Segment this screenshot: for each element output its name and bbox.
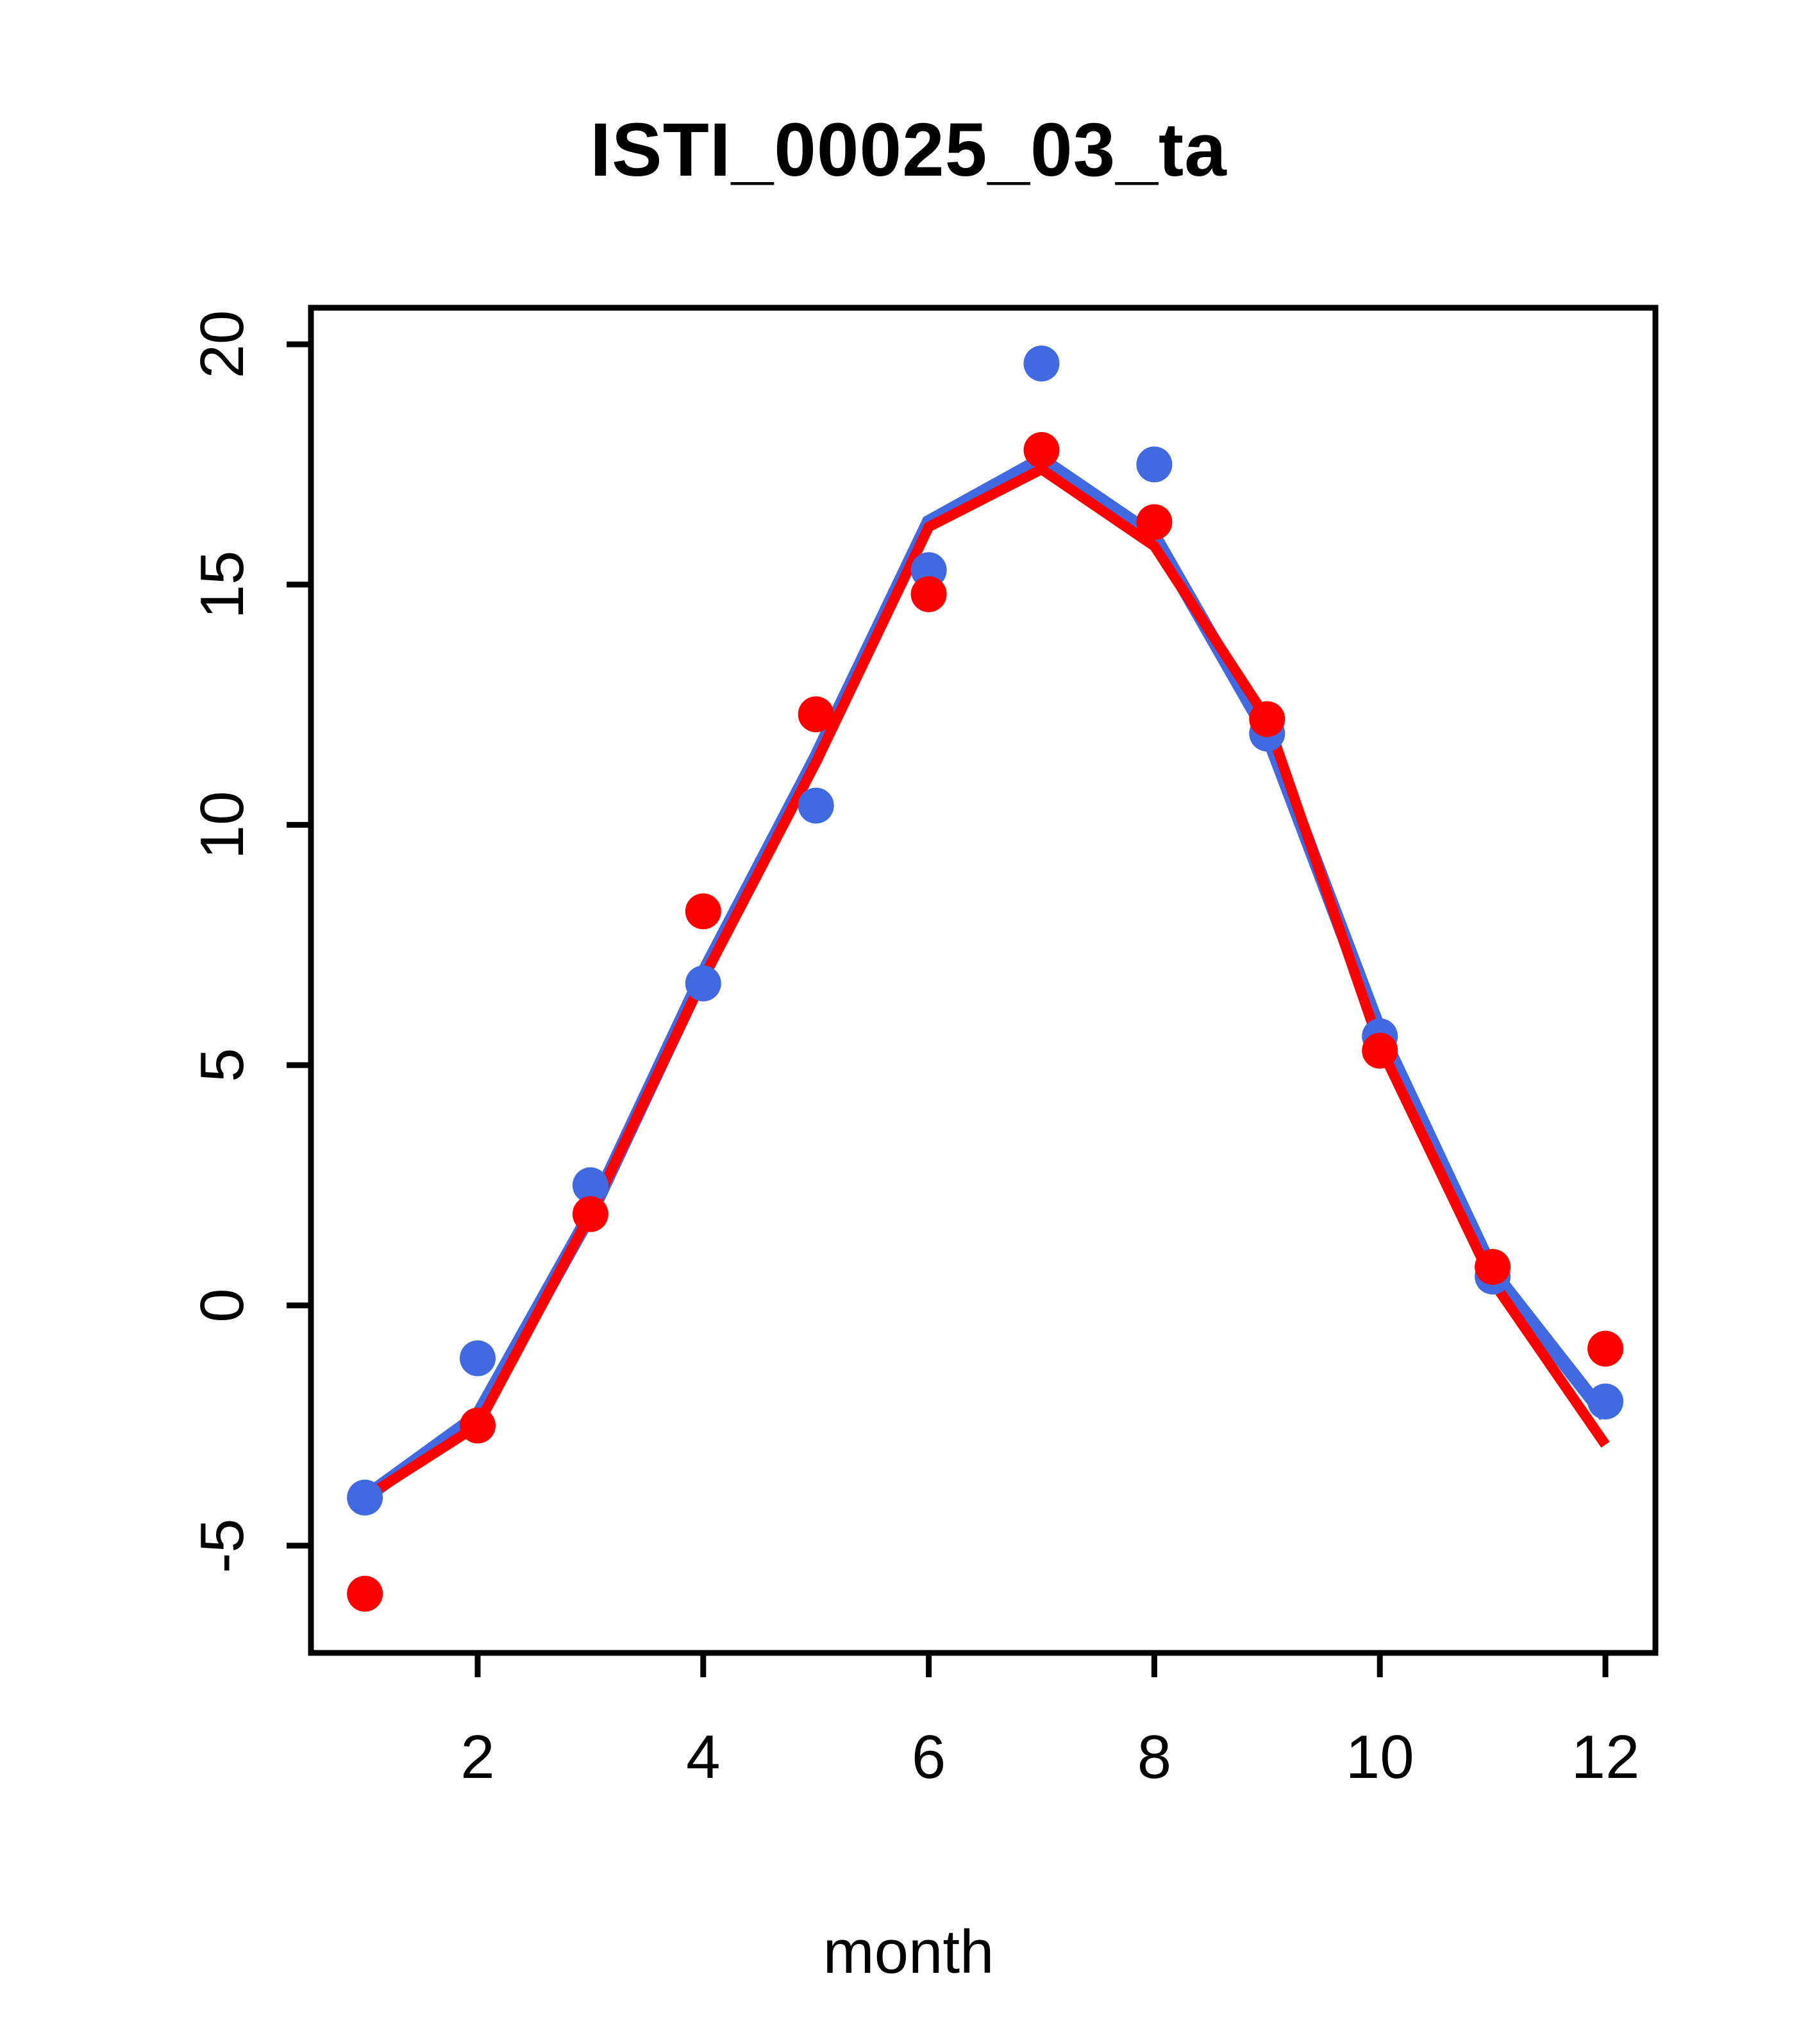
data-point-red-points — [1362, 1033, 1398, 1069]
series-points — [347, 346, 1623, 1612]
data-point-blue-points — [347, 1480, 383, 1516]
x-axis-tick-label: 10 — [1296, 1722, 1463, 1793]
x-axis-tick-label: 4 — [620, 1722, 787, 1793]
y-axis-tick-label: 10 — [187, 748, 258, 902]
y-axis-tick-label: 0 — [187, 1228, 258, 1382]
plot-frame — [311, 308, 1655, 1653]
data-point-blue-points — [1587, 1384, 1623, 1420]
data-point-red-points — [1475, 1249, 1511, 1285]
series-lines — [365, 460, 1605, 1498]
plot-box — [311, 308, 1655, 1653]
data-point-red-points — [911, 576, 947, 612]
data-point-red-points — [1136, 504, 1172, 540]
axis-ticks — [287, 344, 1605, 1677]
data-point-blue-points — [798, 788, 834, 824]
data-point-red-points — [685, 893, 721, 929]
y-axis-tick-label: 15 — [187, 508, 258, 662]
x-axis-label: month — [0, 1917, 1817, 1988]
data-point-blue-points — [460, 1340, 496, 1376]
y-axis-tick-label: 20 — [187, 267, 258, 421]
x-axis-tick-label: 12 — [1522, 1722, 1689, 1793]
x-axis-tick-label: 2 — [394, 1722, 561, 1793]
series-line-red-line — [365, 469, 1605, 1498]
y-axis-tick-label: 5 — [187, 988, 258, 1142]
data-point-red-points — [573, 1196, 608, 1232]
data-point-red-points — [1249, 701, 1285, 737]
data-point-blue-points — [1024, 346, 1060, 381]
data-point-red-points — [347, 1576, 383, 1612]
x-axis-tick-label: 6 — [846, 1722, 1012, 1793]
x-axis-tick-label: 8 — [1071, 1722, 1237, 1793]
data-point-blue-points — [1136, 446, 1172, 482]
plot-root: ISTI_00025_03_ta 20151050-5 24681012 mon… — [0, 0, 1817, 2044]
data-point-red-points — [1587, 1330, 1623, 1366]
y-axis-tick-label: -5 — [187, 1469, 258, 1623]
data-point-red-points — [798, 696, 834, 732]
data-point-red-points — [1024, 432, 1060, 468]
series-line-blue-line — [365, 460, 1605, 1498]
data-point-red-points — [460, 1407, 496, 1443]
data-point-blue-points — [685, 966, 721, 1001]
